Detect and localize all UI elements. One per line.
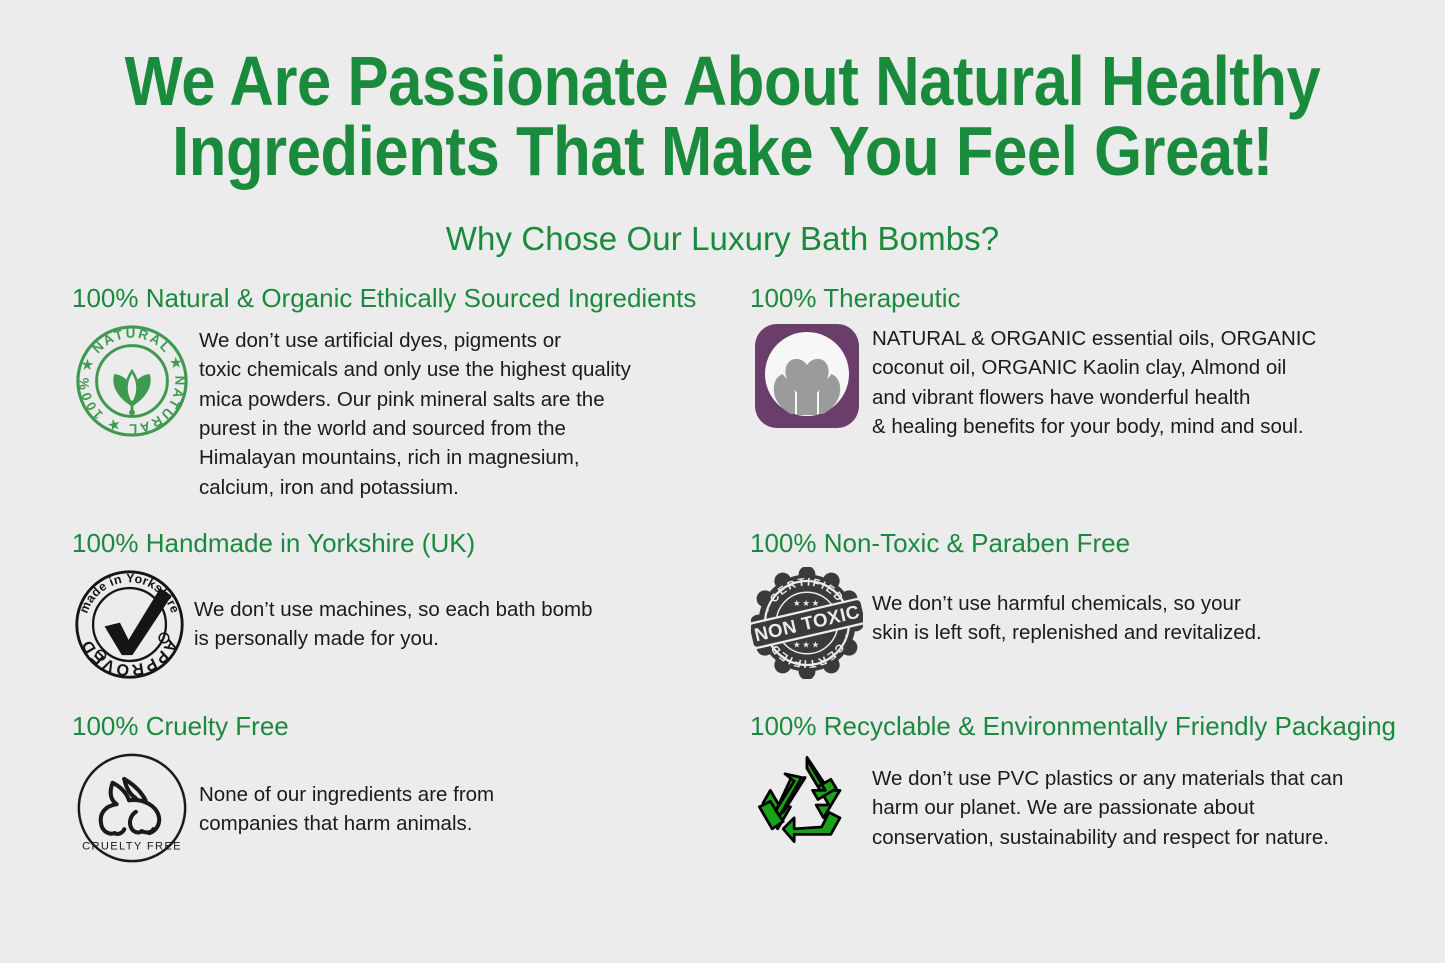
- feature-title-recyclable-packaging: 100% Recyclable & Environmentally Friend…: [750, 711, 1445, 742]
- yorkshire-approved-stamp-icon: made in Yorkshire APPROVED: [64, 567, 194, 682]
- non-toxic-certified-stamp-icon: · CERTIFIED · · CERTIFIED · NON TOXIC ★★…: [742, 567, 872, 679]
- feature-title-natural-organic: 100% Natural & Organic Ethically Sourced…: [72, 283, 722, 314]
- feature-body-non-toxic: We don’t use harmful chemicals, so your …: [872, 567, 1262, 648]
- svg-text:★★★: ★★★: [793, 639, 821, 649]
- feature-therapeutic: 100% Therapeutic NATURAL & ORGANIC essen…: [722, 283, 1445, 528]
- feature-cruelty-free: 100% Cruelty Free: [0, 711, 722, 891]
- feature-row-3: 100% Cruelty Free: [0, 711, 1445, 891]
- feature-handmade-yorkshire: 100% Handmade in Yorkshire (UK) made in …: [0, 528, 722, 711]
- recycle-arrows-icon: [742, 750, 872, 860]
- feature-row-2: 100% Handmade in Yorkshire (UK) made in …: [0, 528, 1445, 711]
- feature-title-non-toxic: 100% Non-Toxic & Paraben Free: [750, 528, 1445, 559]
- feature-title-therapeutic: 100% Therapeutic: [750, 283, 1445, 314]
- svg-text:★ NATURAL ★: ★ NATURAL ★: [77, 326, 185, 373]
- feature-body-recyclable-packaging: We don’t use PVC plastics or any materia…: [872, 750, 1343, 852]
- feature-recyclable-packaging: 100% Recyclable & Environmentally Friend…: [722, 711, 1445, 891]
- feature-title-handmade-yorkshire: 100% Handmade in Yorkshire (UK): [72, 528, 722, 559]
- features-grid: 100% Natural & Organic Ethically Sourced…: [0, 283, 1445, 891]
- feature-body-natural-organic: We don’t use artificial dyes, pigments o…: [199, 322, 631, 502]
- feature-row-1: 100% Natural & Organic Ethically Sourced…: [0, 283, 1445, 528]
- page-headline: We Are Passionate About Natural Healthy …: [87, 0, 1359, 186]
- feature-title-cruelty-free: 100% Cruelty Free: [72, 711, 722, 742]
- page-subheading: Why Chose Our Luxury Bath Bombs?: [0, 220, 1445, 258]
- feature-body-therapeutic: NATURAL & ORGANIC essential oils, ORGANI…: [872, 322, 1316, 441]
- feature-body-cruelty-free: None of our ingredients are from compani…: [199, 750, 494, 839]
- svg-text:★★★: ★★★: [793, 598, 821, 608]
- svg-text:CRUELTY FREE: CRUELTY FREE: [82, 841, 182, 853]
- cruelty-free-rabbit-icon: CRUELTY FREE: [64, 750, 199, 866]
- headline-line-1: We Are Passionate About Natural Healthy: [125, 42, 1321, 120]
- feature-non-toxic: 100% Non-Toxic & Paraben Free: [722, 528, 1445, 711]
- natural-stamp-icon: ★ NATURAL ★ NATURAL ★ 100%: [64, 322, 199, 440]
- headline-line-2: Ingredients That Make You Feel Great!: [87, 116, 1359, 186]
- feature-natural-organic: 100% Natural & Organic Ethically Sourced…: [0, 283, 722, 528]
- heart-in-hands-icon: [742, 322, 872, 430]
- feature-body-handmade-yorkshire: We don’t use machines, so each bath bomb…: [194, 567, 592, 654]
